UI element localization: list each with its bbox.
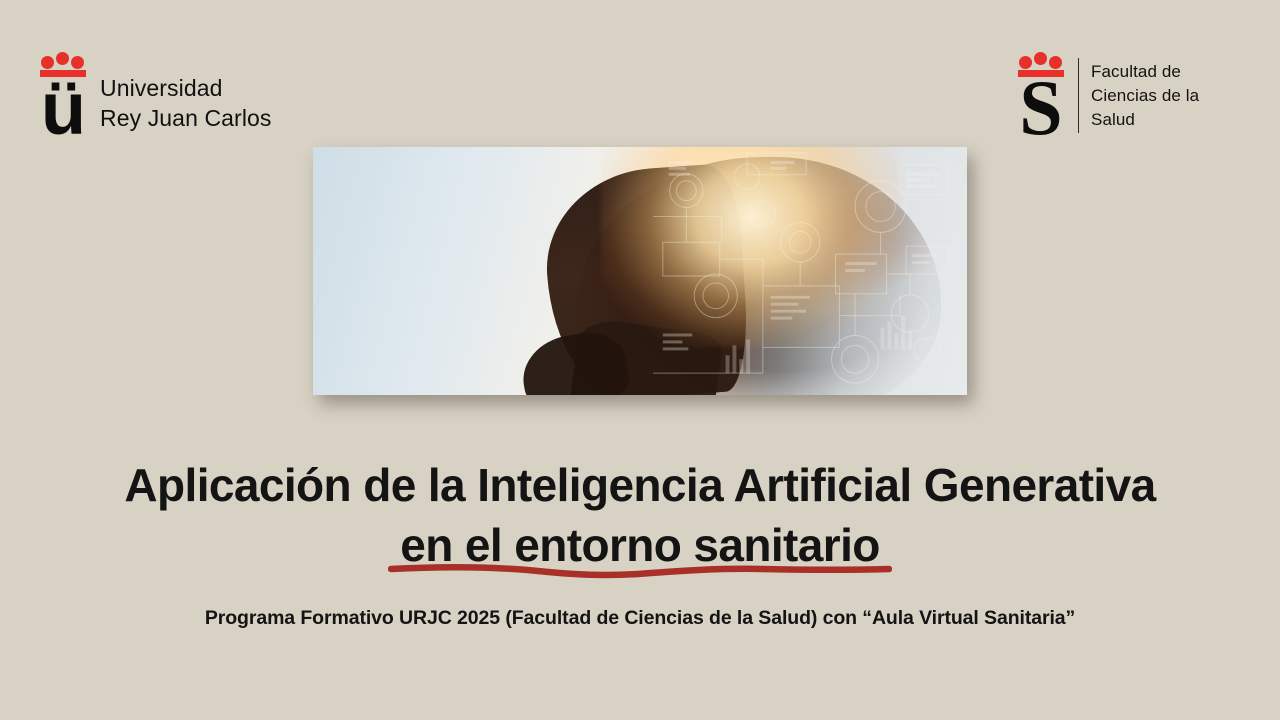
logo-universidad-rey-juan-carlos: ü Universidad Rey Juan Carlos (40, 52, 272, 138)
urjc-wordmark-line-2: Rey Juan Carlos (100, 103, 272, 133)
urjc-letter-u: ü (41, 80, 85, 138)
facultad-wordmark-line-3: Salud (1091, 108, 1199, 132)
urjc-wordmark: Universidad Rey Juan Carlos (100, 73, 272, 138)
urjc-mark: ü (40, 52, 86, 138)
logo-vertical-divider (1078, 58, 1079, 133)
facultad-wordmark: Facultad de Ciencias de la Salud (1091, 52, 1199, 132)
logo-facultad-ciencias-salud: S Facultad de Ciencias de la Salud (1018, 52, 1199, 137)
facultad-wordmark-line-2: Ciencias de la (1091, 84, 1199, 108)
facultad-letter-s: S (1019, 78, 1062, 137)
wavy-red-divider (388, 558, 892, 582)
presentation-slide: ü Universidad Rey Juan Carlos S Facultad… (0, 0, 1280, 720)
crown-icon (1018, 52, 1064, 78)
facultad-wordmark-line-1: Facultad de (1091, 60, 1199, 84)
crown-icon (40, 52, 86, 78)
slide-title-line-1: Aplicación de la Inteligencia Artificial… (44, 456, 1236, 516)
urjc-wordmark-line-1: Universidad (100, 73, 272, 103)
hero-tech-overlay (653, 147, 967, 395)
hero-image (313, 147, 967, 395)
hero-image-content (313, 147, 967, 395)
slide-subtitle: Programa Formativo URJC 2025 (Facultad d… (0, 606, 1280, 631)
facultad-mark: S (1018, 52, 1064, 137)
